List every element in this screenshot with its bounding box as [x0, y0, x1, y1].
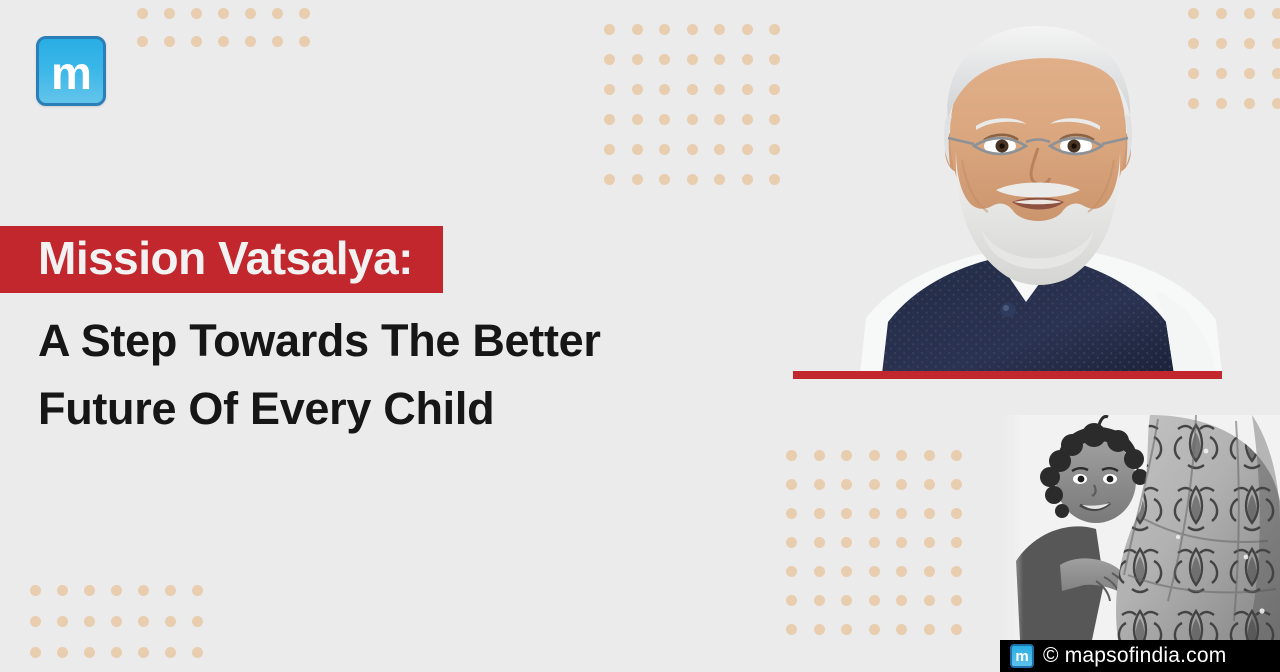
decor-dot: [111, 647, 122, 658]
decor-dot: [687, 24, 698, 35]
decor-dot: [769, 114, 780, 125]
decor-dot: [924, 624, 935, 635]
decor-dot: [814, 508, 825, 519]
decor-dot: [687, 54, 698, 65]
decor-dot: [951, 624, 962, 635]
decor-dot: [632, 84, 643, 95]
decor-dot: [138, 616, 149, 627]
decor-dot: [218, 36, 229, 47]
decor-dot: [192, 616, 203, 627]
decor-dot: [659, 174, 670, 185]
decor-dot: [604, 114, 615, 125]
decor-dot: [57, 585, 68, 596]
decor-dot: [769, 144, 780, 155]
decor-dot: [814, 450, 825, 461]
decor-dot: [30, 616, 41, 627]
decor-dot: [896, 595, 907, 606]
decor-dot: [1272, 98, 1280, 109]
subtitle-block: A Step Towards The Better Future Of Ever…: [38, 307, 760, 444]
decor-dot: [924, 595, 935, 606]
decor-dot: [604, 24, 615, 35]
decor-dot: [924, 450, 935, 461]
decor-dot: [191, 36, 202, 47]
decor-dot: [714, 84, 725, 95]
decor-dot: [138, 647, 149, 658]
decor-dot: [272, 8, 283, 19]
decor-dot: [687, 174, 698, 185]
poster-canvas: m: [0, 0, 1280, 672]
decor-dot: [272, 36, 283, 47]
decor-dot: [1272, 8, 1280, 19]
decor-dot: [924, 537, 935, 548]
decor-dot: [632, 144, 643, 155]
watermark-text: © mapsofindia.com: [1043, 644, 1226, 668]
decor-dot: [841, 450, 852, 461]
dot-grid-top-left: [137, 8, 326, 64]
decor-dot: [841, 508, 852, 519]
decor-dot: [165, 616, 176, 627]
decor-dot: [769, 54, 780, 65]
decor-dot: [84, 585, 95, 596]
decor-dot: [742, 174, 753, 185]
decor-dot: [786, 479, 797, 490]
decor-dot: [57, 616, 68, 627]
decor-dot: [604, 54, 615, 65]
decor-dot: [924, 479, 935, 490]
decor-dot: [896, 566, 907, 577]
decor-dot: [192, 647, 203, 658]
decor-dot: [951, 595, 962, 606]
decor-dot: [814, 479, 825, 490]
decor-dot: [769, 174, 780, 185]
mapsofindia-logo-icon[interactable]: m: [36, 36, 106, 106]
subtitle-line-1: A Step Towards The Better: [38, 307, 760, 375]
decor-dot: [869, 566, 880, 577]
decor-dot: [604, 174, 615, 185]
decor-dot: [814, 566, 825, 577]
decor-dot: [245, 36, 256, 47]
decor-dot: [165, 585, 176, 596]
decor-dot: [786, 508, 797, 519]
decor-dot: [299, 36, 310, 47]
portrait-narendra-modi: [830, 0, 1250, 374]
decor-dot: [951, 479, 962, 490]
decor-dot: [632, 24, 643, 35]
decor-dot: [896, 450, 907, 461]
decor-dot: [814, 624, 825, 635]
decor-dot: [192, 585, 203, 596]
decor-dot: [111, 616, 122, 627]
decor-dot: [786, 624, 797, 635]
decor-dot: [869, 595, 880, 606]
decor-dot: [111, 585, 122, 596]
decor-dot: [137, 36, 148, 47]
decor-dot: [869, 450, 880, 461]
decor-dot: [714, 174, 725, 185]
decor-dot: [924, 508, 935, 519]
photo-mother-and-child: [1000, 415, 1280, 640]
decor-dot: [632, 174, 643, 185]
decor-dot: [786, 566, 797, 577]
dot-grid-bottom-left: [30, 585, 219, 672]
decor-dot: [814, 537, 825, 548]
decor-dot: [714, 144, 725, 155]
decor-dot: [191, 8, 202, 19]
page-title: Mission Vatsalya:: [38, 232, 413, 284]
decor-dot: [632, 54, 643, 65]
decor-dot: [742, 144, 753, 155]
decor-dot: [896, 508, 907, 519]
decor-dot: [687, 144, 698, 155]
dot-grid-bottom-middle: [786, 450, 979, 653]
decor-dot: [687, 114, 698, 125]
decor-dot: [1272, 38, 1280, 49]
decor-dot: [786, 537, 797, 548]
decor-dot: [165, 647, 176, 658]
decor-dot: [245, 8, 256, 19]
decor-dot: [951, 566, 962, 577]
decor-dot: [714, 54, 725, 65]
logo-letter: m: [51, 50, 91, 96]
decor-dot: [714, 114, 725, 125]
watermark-logo-icon: m: [1010, 644, 1034, 668]
decor-dot: [869, 479, 880, 490]
decor-dot: [742, 54, 753, 65]
decor-dot: [769, 24, 780, 35]
decor-dot: [742, 114, 753, 125]
decor-dot: [869, 624, 880, 635]
decor-dot: [896, 537, 907, 548]
decor-dot: [896, 479, 907, 490]
decor-dot: [1272, 68, 1280, 79]
decor-dot: [841, 479, 852, 490]
decor-dot: [814, 595, 825, 606]
decor-dot: [769, 84, 780, 95]
decor-dot: [30, 647, 41, 658]
decor-dot: [138, 585, 149, 596]
decor-dot: [687, 84, 698, 95]
decor-dot: [659, 84, 670, 95]
decor-dot: [164, 8, 175, 19]
decor-dot: [84, 647, 95, 658]
headline-block: Mission Vatsalya: A Step Towards The Bet…: [0, 226, 760, 444]
decor-dot: [30, 585, 41, 596]
decor-dot: [841, 566, 852, 577]
decor-dot: [869, 537, 880, 548]
decor-dot: [218, 8, 229, 19]
decor-dot: [786, 450, 797, 461]
accent-rule: [793, 371, 1222, 379]
decor-dot: [951, 450, 962, 461]
decor-dot: [659, 24, 670, 35]
decor-dot: [84, 616, 95, 627]
decor-dot: [632, 114, 643, 125]
decor-dot: [659, 114, 670, 125]
decor-dot: [742, 84, 753, 95]
decor-dot: [924, 566, 935, 577]
decor-dot: [841, 624, 852, 635]
subtitle-line-2: Future Of Every Child: [38, 375, 760, 443]
decor-dot: [659, 144, 670, 155]
decor-dot: [951, 537, 962, 548]
watermark-logo-letter: m: [1015, 649, 1028, 664]
decor-dot: [786, 595, 797, 606]
decor-dot: [951, 508, 962, 519]
decor-dot: [742, 24, 753, 35]
decor-dot: [57, 647, 68, 658]
decor-dot: [659, 54, 670, 65]
decor-dot: [604, 84, 615, 95]
decor-dot: [714, 24, 725, 35]
decor-dot: [869, 508, 880, 519]
decor-dot: [299, 8, 310, 19]
decor-dot: [164, 36, 175, 47]
decor-dot: [604, 144, 615, 155]
decor-dot: [896, 624, 907, 635]
title-banner: Mission Vatsalya:: [0, 226, 443, 293]
decor-dot: [841, 537, 852, 548]
watermark-bar: m © mapsofindia.com: [1000, 640, 1280, 672]
dot-grid-top-middle: [604, 24, 797, 204]
decor-dot: [841, 595, 852, 606]
decor-dot: [137, 8, 148, 19]
